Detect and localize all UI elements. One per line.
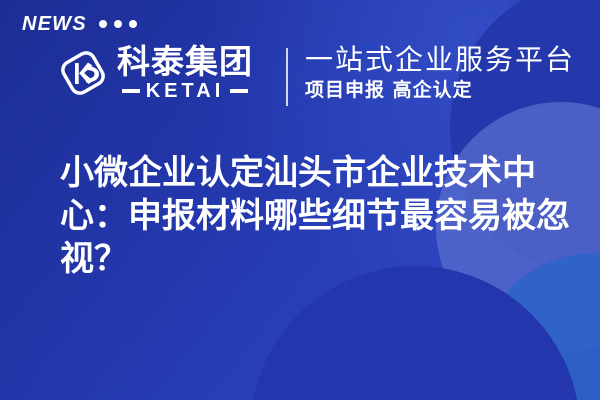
dot-icon	[99, 20, 107, 28]
brand-wordmark: 科泰集团 KETAI	[117, 45, 253, 101]
brand-logo: 科泰集团 KETAI	[56, 44, 253, 102]
rule-right	[230, 89, 248, 93]
slogan-main-text: 一站式企业服务平台	[305, 43, 575, 76]
slogan-sub-text: 项目申报 高企认定	[305, 79, 575, 102]
brand-slogan: 一站式企业服务平台 项目申报 高企认定	[305, 43, 575, 102]
logo-slogan-divider	[286, 48, 288, 106]
dot-icon	[129, 20, 137, 28]
dot-icon	[114, 20, 122, 28]
news-kicker-label: NEWS	[22, 14, 87, 34]
news-kicker: NEWS	[22, 14, 137, 34]
brand-name-en-row: KETAI	[122, 81, 249, 101]
article-headline: 小微企业认定汕头市企业技术中心：申报材料哪些细节最容易被忽视？	[60, 152, 570, 281]
ketai-diamond-kd-logo-icon	[56, 44, 110, 102]
news-banner: NEWS 科泰集团 KETAI	[0, 0, 600, 400]
brand-name-cn: 科泰集团	[117, 45, 253, 80]
brand-name-en: KETAI	[146, 81, 225, 101]
news-kicker-dots-icon	[99, 20, 137, 28]
rule-left	[122, 89, 140, 93]
